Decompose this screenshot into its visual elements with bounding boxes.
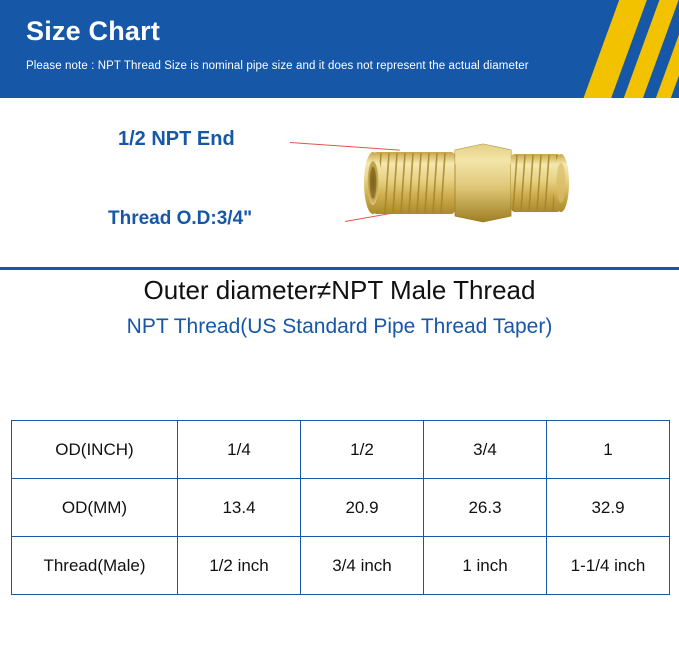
table-row-header: OD(MM) (12, 479, 178, 537)
product-photo-panel: 1/2 NPT End Thread O.D:3/4" (0, 98, 679, 270)
table-cell: 1 inch (424, 537, 547, 595)
table-row: OD(INCH) 1/4 1/2 3/4 1 (12, 421, 670, 479)
table-row-header: Thread(Male) (12, 537, 178, 595)
table-cell: 26.3 (424, 479, 547, 537)
table-cell: 1/2 inch (178, 537, 301, 595)
size-chart-page: Size Chart Please note : NPT Thread Size… (0, 0, 679, 655)
summary-text-block: Outer diameter≠NPT Male Thread NPT Threa… (0, 273, 679, 343)
table-row: OD(MM) 13.4 20.9 26.3 32.9 (12, 479, 670, 537)
table-row: Thread(Male) 1/2 inch 3/4 inch 1 inch 1-… (12, 537, 670, 595)
table-cell: 20.9 (301, 479, 424, 537)
callout-label-thread-od: Thread O.D:3/4" (108, 208, 252, 230)
callout-label-npt-end: 1/2 NPT End (118, 128, 235, 151)
brass-hex-nipple-image (355, 138, 575, 228)
table-cell: 1-1/4 inch (547, 537, 670, 595)
table-cell: 32.9 (547, 479, 670, 537)
page-title: Size Chart (26, 16, 160, 47)
header-note: Please note : NPT Thread Size is nominal… (26, 60, 529, 72)
size-table: OD(INCH) 1/4 1/2 3/4 1 OD(MM) 13.4 20.9 … (11, 420, 670, 595)
table-cell: 1/2 (301, 421, 424, 479)
table-cell: 1/4 (178, 421, 301, 479)
summary-line-primary: Outer diameter≠NPT Male Thread (0, 273, 679, 307)
table-cell: 3/4 (424, 421, 547, 479)
table-cell: 3/4 inch (301, 537, 424, 595)
header-banner: Size Chart Please note : NPT Thread Size… (0, 0, 679, 98)
table-cell: 1 (547, 421, 670, 479)
table-row-header: OD(INCH) (12, 421, 178, 479)
summary-line-secondary: NPT Thread(US Standard Pipe Thread Taper… (0, 311, 679, 343)
table-cell: 13.4 (178, 479, 301, 537)
